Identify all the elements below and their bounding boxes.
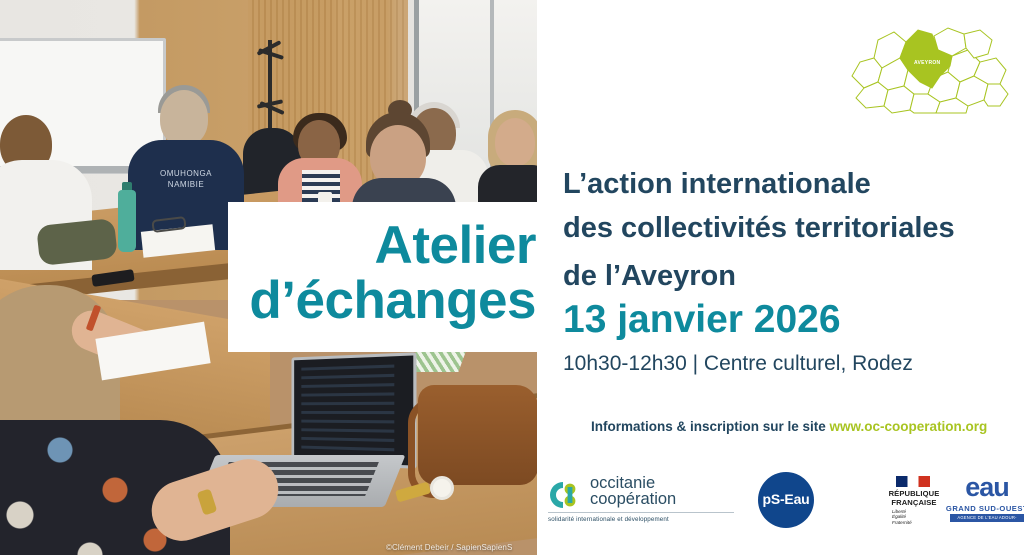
event-time-and-venue: 10h30-12h30 | Centre culturel, Rodez	[563, 353, 913, 374]
eau-region-label: GRAND SUD-OUEST	[944, 504, 1024, 513]
photo-green-pouch	[408, 352, 465, 372]
registration-url[interactable]: www.oc-cooperation.org	[830, 419, 988, 434]
photo-tshirt-text: OMUHONGANAMIBIE	[150, 168, 222, 198]
partner-logos: occitanie coopération solidarité interna…	[540, 470, 1024, 532]
pseau-logo-text: pS-Eau	[758, 491, 814, 507]
headline-line-1: L’action internationale	[563, 170, 871, 199]
occitanie-logo-text: occitanie coopération	[590, 476, 676, 507]
photo-credit: ©Clément Debeir / SapienSapienS	[386, 543, 512, 552]
photo-keyring	[430, 476, 454, 500]
photo-person-6-head	[495, 118, 535, 166]
page-title-line-1: Atelier	[375, 219, 536, 272]
occitanie-logo-tagline: solidarité internationale et développeme…	[548, 516, 669, 523]
photo-backpack	[36, 218, 118, 266]
headline-line-2: des collectivités territoriales	[563, 214, 955, 243]
eau-wordmark: eau	[944, 474, 1024, 501]
headline-line-3: de l’Aveyron	[563, 262, 736, 291]
photo-laptop-screen	[291, 352, 416, 469]
registration-info: Informations & inscription sur le site w…	[591, 419, 987, 434]
photo-laptop-screen-content	[301, 365, 394, 452]
photo-handbag	[418, 385, 537, 485]
poster-canvas: OMUHONGANAMIBIE	[0, 0, 1024, 555]
registration-label: Informations & inscription sur le site	[591, 419, 830, 434]
event-date: 13 janvier 2026	[563, 300, 841, 339]
tshirt-line-1: OMUHONGA	[160, 169, 212, 178]
republique-logo-text: RÉPUBLIQUE FRANÇAISE	[882, 490, 946, 507]
page-title-line-2: d’échanges	[249, 274, 536, 327]
republique-line-2: FRANÇAISE	[882, 499, 946, 508]
photo-person-2-head	[160, 90, 208, 146]
title-panel: Atelier d’échanges	[228, 202, 550, 352]
french-flag-icon	[896, 476, 930, 487]
occitanie-logo-divider	[548, 512, 734, 513]
republique-motto: Liberté Égalité Fraternité	[892, 509, 912, 525]
tshirt-line-2: NAMIBIE	[168, 180, 204, 189]
occitanie-logo-mark	[548, 480, 582, 510]
eau-banner-text: AGENCE DE L’EAU ADOUR-GARONNE	[950, 514, 1024, 522]
motto-fraternite: Fraternité	[892, 520, 912, 525]
logo-pseau[interactable]: pS-Eau	[758, 472, 814, 528]
photo-water-bottle	[118, 190, 136, 252]
occitanie-logo-line-2: coopération	[590, 492, 676, 508]
